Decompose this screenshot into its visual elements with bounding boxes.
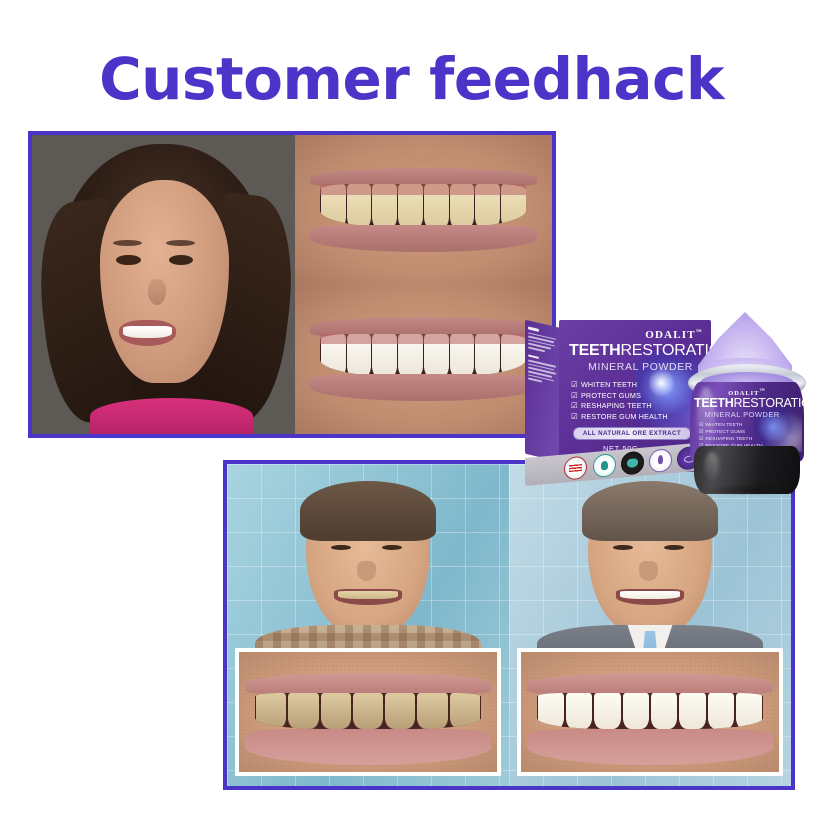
- lower-lip: [527, 729, 774, 765]
- trademark-symbol: ™: [759, 388, 765, 394]
- tooth: [566, 693, 592, 729]
- testimonial-panel-man: [223, 460, 795, 790]
- product-title-light: RESTORATION: [733, 396, 804, 410]
- product-box: ODALIT™ TEETHRESTORATION MINERAL POWDER …: [525, 318, 711, 486]
- mouth-opening: [255, 693, 481, 729]
- brand-name: ODALIT™: [559, 329, 703, 341]
- eyebrow-left: [113, 240, 142, 246]
- mouth-opening: [537, 693, 763, 729]
- benefit-item: WHITEN TEETH: [699, 422, 763, 429]
- lower-lip: [310, 225, 537, 252]
- mouth-closeup-after: [517, 648, 782, 777]
- lower-lip: [245, 729, 492, 765]
- face-shape: [100, 180, 229, 383]
- benefit-item: PROTECT GUMS: [571, 391, 668, 402]
- testimonial-panel-woman: [28, 131, 556, 438]
- man-portrait-after: [509, 477, 791, 677]
- tooth: [708, 693, 734, 729]
- product-subtitle: MINERAL POWDER: [694, 410, 790, 419]
- benefit-item: RESTORE GUM HEALTH: [571, 412, 668, 423]
- page-title: Customer feedhack: [0, 45, 823, 113]
- smiling-mouth: [334, 589, 402, 605]
- smiling-mouth: [119, 320, 177, 345]
- clothing-shape: [90, 398, 253, 434]
- tooth: [321, 693, 351, 729]
- tooth: [651, 693, 677, 729]
- woman-portrait-photo: [32, 135, 295, 434]
- benefit-item: WHITEN TEETH: [571, 380, 668, 391]
- side-text-block: [528, 326, 558, 354]
- product-title-bold: TEETH: [569, 342, 620, 359]
- man-portrait-before: [227, 477, 509, 677]
- lab-tested-seal-icon: [649, 448, 672, 473]
- hair-shape: [300, 481, 435, 541]
- tooth: [385, 693, 415, 729]
- teeth-closeup-column: [295, 135, 552, 434]
- nose-shape: [639, 561, 659, 581]
- upper-lip: [527, 673, 774, 695]
- side-text-heading: [528, 354, 539, 359]
- teeth-closeup-after: [295, 285, 552, 435]
- side-text-heading: [528, 326, 539, 331]
- mouth-closeup-before: [235, 648, 500, 777]
- dental-health-seal-icon: [593, 453, 616, 478]
- usa-flag-seal-icon: [564, 455, 587, 480]
- product-title-bold: TEETH: [694, 396, 733, 410]
- teeth-shape: [338, 591, 398, 599]
- tooth: [288, 693, 318, 729]
- teeth-shape: [620, 591, 680, 599]
- product-jar: ODALIT™ TEETHRESTORATION MINERAL POWDER …: [686, 312, 810, 497]
- gum-line: [320, 184, 526, 194]
- tooth: [417, 693, 447, 729]
- benefit-list: WHITEN TEETH PROTECT GUMS RESHAPING TEET…: [571, 380, 668, 422]
- base-highlight: [705, 452, 720, 484]
- eye-left: [331, 545, 351, 550]
- teeth-shape: [123, 326, 172, 338]
- nose-shape: [148, 279, 166, 306]
- nose-shape: [357, 561, 377, 581]
- smiling-mouth: [616, 589, 684, 605]
- man-after-half: [509, 464, 791, 786]
- product-title: TEETHRESTORATION: [694, 396, 800, 410]
- side-text-block: [528, 354, 558, 386]
- upper-lip: [245, 673, 492, 695]
- tooth: [594, 693, 620, 729]
- gum-line: [320, 334, 526, 344]
- benefit-item: RESHAPING TEETH: [699, 436, 763, 443]
- eye-right: [382, 545, 402, 550]
- dark-emblem-seal-icon: [621, 450, 644, 475]
- man-before-half: [227, 464, 509, 786]
- jar-drop-shadow: [700, 484, 794, 496]
- lower-lip: [310, 374, 537, 401]
- benefit-item: RESHAPING TEETH: [571, 401, 668, 412]
- tooth: [679, 693, 705, 729]
- benefit-item: PROTECT GUMS: [699, 429, 763, 436]
- teeth-closeup-before: [295, 135, 552, 285]
- tooth: [353, 693, 383, 729]
- tooth: [623, 693, 649, 729]
- eye-right: [664, 545, 684, 550]
- eyebrow-right: [166, 240, 195, 246]
- product-box-side-panel: [525, 320, 561, 462]
- product-subtitle: MINERAL POWDER: [569, 361, 693, 373]
- natural-extract-badge: ALL NATURAL ORE EXTRACT: [573, 427, 691, 440]
- eye-left: [613, 545, 633, 550]
